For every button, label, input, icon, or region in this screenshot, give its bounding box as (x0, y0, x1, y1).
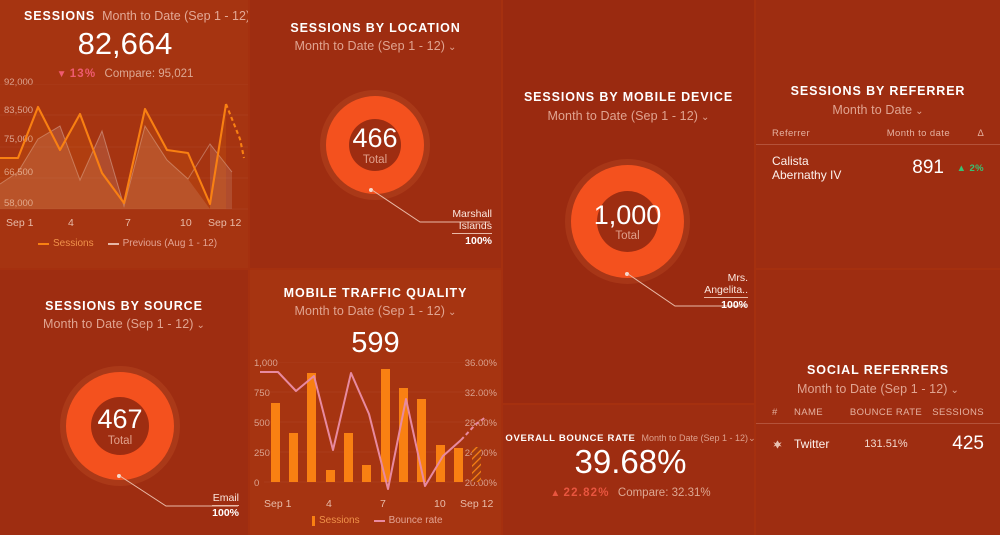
social-col-sessions: SESSIONS (928, 407, 984, 418)
mobile-device-callout-line1: Mrs. (704, 272, 748, 284)
delta-up-icon: ▲ (550, 488, 560, 499)
location-total-label: Total (363, 154, 387, 166)
location-callout-percent: 100% (452, 233, 492, 247)
mtq-xtick-0: Sep 1 (264, 498, 291, 510)
delta-up-icon: ▲ (957, 163, 967, 174)
social-row-name: Twitter (786, 437, 844, 451)
referrer-col-delta: ∆ (950, 128, 984, 139)
bounce-delta-pct: 22.82% (563, 487, 609, 499)
dashboard: SESSIONSMonth to Date (Sep 1 - 12)⌄ 82,6… (0, 0, 1000, 535)
location-callout-line2: Islands (452, 220, 492, 232)
referrer-table-header: Referrer Month to date ∆ (756, 128, 1000, 145)
sessions-compare: Compare: 95,021 (105, 68, 194, 80)
source-range-select[interactable]: Month to Date (Sep 1 - 12)⌄ (0, 317, 248, 331)
source-callout-line1: Email (212, 492, 239, 504)
mtq-bar-projected (472, 447, 481, 482)
sessions-xtick-0: Sep 1 (6, 217, 33, 229)
mobile-device-donut-center: 1,000 Total (571, 165, 684, 278)
table-row[interactable]: Calista Abernathy IV 891 ▲ 2% (756, 145, 1000, 182)
referrer-row-delta-value: 2% (969, 163, 984, 174)
sessions-kpi-value: 82,664 (0, 26, 248, 62)
twitter-bird-icon (772, 439, 786, 450)
legend-label-sessions: Sessions (53, 238, 94, 249)
social-table-header: # NAME BOUNCE RATE SESSIONS (756, 407, 1000, 424)
location-title: SESSIONS BY LOCATION (250, 21, 501, 35)
social-row-sessions: 425 (928, 433, 984, 455)
mtq-combo-chart (250, 362, 501, 492)
location-total-value: 466 (352, 124, 397, 152)
sessions-xtick-1: 4 (68, 217, 74, 229)
mtq-title: MOBILE TRAFFIC QUALITY (250, 286, 501, 300)
mtq-range-select[interactable]: Month to Date (Sep 1 - 12)⌄ (250, 304, 501, 318)
mobile-device-total-label: Total (615, 230, 639, 242)
referrer-title: SESSIONS BY REFERRER (756, 84, 1000, 98)
source-donut-chart[interactable]: 467 Total (66, 372, 174, 480)
source-callout: Email 100% (212, 492, 239, 519)
panel-sessions-title: SESSIONS (24, 9, 95, 23)
chevron-down-icon: ⌄ (915, 106, 923, 117)
panel-sessions-by-location: SESSIONS BY LOCATION Month to Date (Sep … (250, 0, 501, 268)
source-donut-center: 467 Total (66, 372, 174, 480)
chevron-down-icon: ⌄ (448, 307, 456, 318)
referrer-col-mtd: Month to date (864, 128, 950, 139)
referrer-row-value: 891 (858, 157, 944, 179)
legend-label-previous: Previous (Aug 1 - 12) (123, 238, 218, 249)
legend-item-previous: Previous (Aug 1 - 12) (108, 238, 218, 249)
legend-label-bounce-rate: Bounce rate (389, 515, 443, 526)
sessions-legend: Sessions Previous (Aug 1 - 12) (38, 238, 217, 249)
panel-sessions-by-referrer: SESSIONS BY REFERRER Month to Date⌄ Refe… (756, 0, 1000, 268)
bounce-kpi-delta: ▲ 22.82% Compare: 32.31% (503, 487, 754, 499)
social-col-name: NAME (786, 407, 844, 418)
chevron-down-icon: ⌄ (448, 42, 456, 53)
bounce-kpi-value: 39.68% (503, 443, 754, 481)
location-donut-chart[interactable]: 466 Total (326, 96, 424, 194)
source-total-value: 467 (97, 405, 142, 433)
source-title: SESSIONS BY SOURCE (0, 299, 248, 313)
referrer-table: Referrer Month to date ∆ Calista Abernat… (756, 128, 1000, 182)
social-title: SOCIAL REFERRERS (756, 363, 1000, 377)
bounce-compare: Compare: 32.31% (618, 487, 711, 499)
mobile-device-range-select[interactable]: Month to Date (Sep 1 - 12)⌄ (503, 109, 754, 123)
panel-mobile-traffic-quality: MOBILE TRAFFIC QUALITY Month to Date (Se… (250, 270, 501, 535)
panel-sessions-range-label: Month to Date (Sep 1 - 12) (102, 9, 248, 23)
location-callout-line1: Marshall (452, 208, 492, 220)
mtq-xtick-2: 7 (380, 498, 386, 510)
panel-sessions-by-source: SESSIONS BY SOURCE Month to Date (Sep 1 … (0, 270, 248, 535)
table-row[interactable]: Twitter 131.51% 425 (756, 424, 1000, 455)
legend-item-bounce-rate: Bounce rate (374, 515, 443, 526)
chevron-down-icon: ⌄ (748, 433, 754, 443)
mtq-kpi-value: 599 (250, 327, 501, 360)
social-table: # NAME BOUNCE RATE SESSIONS Twitter 131.… (756, 407, 1000, 455)
social-row-bounce-rate: 131.51% (844, 438, 928, 450)
panel-social-referrers: SOCIAL REFERRERS Month to Date (Sep 1 - … (756, 270, 1000, 535)
panel-overall-bounce-rate: OVERALL BOUNCE RATEMonth to Date (Sep 1 … (503, 405, 754, 535)
mtq-xtick-3: 10 (434, 498, 446, 510)
legend-line-icon (374, 520, 385, 522)
location-donut-center: 466 Total (326, 96, 424, 194)
referrer-col-name: Referrer (772, 128, 864, 139)
mobile-device-range-label: Month to Date (Sep 1 - 12) (547, 109, 698, 123)
mobile-device-total-value: 1,000 (594, 201, 662, 229)
source-callout-percent: 100% (212, 505, 239, 519)
mtq-bars (271, 369, 463, 482)
bounce-range-label: Month to Date (Sep 1 - 12) (642, 433, 749, 443)
source-callout-leader (0, 476, 248, 526)
mobile-device-callout: Mrs. Angelita.. 100% (704, 272, 748, 311)
sessions-delta-pct: 13% (70, 68, 97, 80)
source-range-label: Month to Date (Sep 1 - 12) (43, 317, 194, 331)
bounce-range-select[interactable]: Month to Date (Sep 1 - 12)⌄ (642, 433, 755, 443)
sessions-kpi-delta: ▼ 13% Compare: 95,021 (0, 68, 248, 80)
delta-down-icon: ▼ (57, 69, 67, 80)
referrer-range-select[interactable]: Month to Date⌄ (756, 103, 1000, 117)
mobile-device-callout-line2: Angelita.. (704, 284, 748, 296)
panel-sessions-header: SESSIONSMonth to Date (Sep 1 - 12)⌄ (24, 7, 248, 25)
mtq-xtick-4: Sep 12 (460, 498, 493, 510)
sessions-xtick-4: Sep 12 (208, 217, 241, 229)
mtq-bounce-line-projected (461, 417, 486, 440)
sessions-line-projected (226, 104, 244, 158)
social-range-label: Month to Date (Sep 1 - 12) (797, 382, 948, 396)
sessions-line-chart (0, 84, 248, 214)
social-range-select[interactable]: Month to Date (Sep 1 - 12)⌄ (756, 382, 1000, 396)
referrer-row-name: Calista Abernathy IV (772, 154, 858, 182)
referrer-row-delta: ▲ 2% (944, 163, 984, 174)
social-col-index: # (772, 407, 786, 418)
referrer-range-label: Month to Date (832, 103, 912, 117)
location-range-select[interactable]: Month to Date (Sep 1 - 12)⌄ (250, 39, 501, 53)
chevron-down-icon: ⌄ (951, 385, 959, 396)
mobile-device-callout-percent: 100% (704, 297, 748, 311)
source-total-label: Total (108, 435, 132, 447)
legend-label-sessions: Sessions (319, 515, 360, 526)
panel-sessions: SESSIONSMonth to Date (Sep 1 - 12)⌄ 82,6… (0, 0, 248, 268)
legend-line-icon (38, 243, 49, 245)
sessions-xtick-2: 7 (125, 217, 131, 229)
location-range-label: Month to Date (Sep 1 - 12) (294, 39, 445, 53)
mtq-legend: Sessions Bounce rate (312, 515, 443, 526)
chevron-down-icon: ⌄ (701, 112, 709, 123)
panel-sessions-by-mobile-device: SESSIONS BY MOBILE DEVICE Month to Date … (503, 0, 754, 403)
chevron-down-icon: ⌄ (197, 320, 205, 331)
social-col-bounce: BOUNCE RATE (844, 407, 928, 418)
legend-line-icon (108, 243, 119, 245)
mobile-device-title: SESSIONS BY MOBILE DEVICE (503, 90, 754, 104)
legend-item-sessions: Sessions (38, 238, 94, 249)
legend-bar-icon (312, 516, 315, 526)
mobile-device-donut-chart[interactable]: 1,000 Total (571, 165, 684, 278)
mtq-range-label: Month to Date (Sep 1 - 12) (294, 304, 445, 318)
panel-sessions-range-select[interactable]: Month to Date (Sep 1 - 12)⌄ (102, 9, 248, 23)
location-callout: Marshall Islands 100% (452, 208, 492, 247)
mtq-xtick-1: 4 (326, 498, 332, 510)
legend-item-sessions: Sessions (312, 515, 360, 526)
sessions-xtick-3: 10 (180, 217, 192, 229)
